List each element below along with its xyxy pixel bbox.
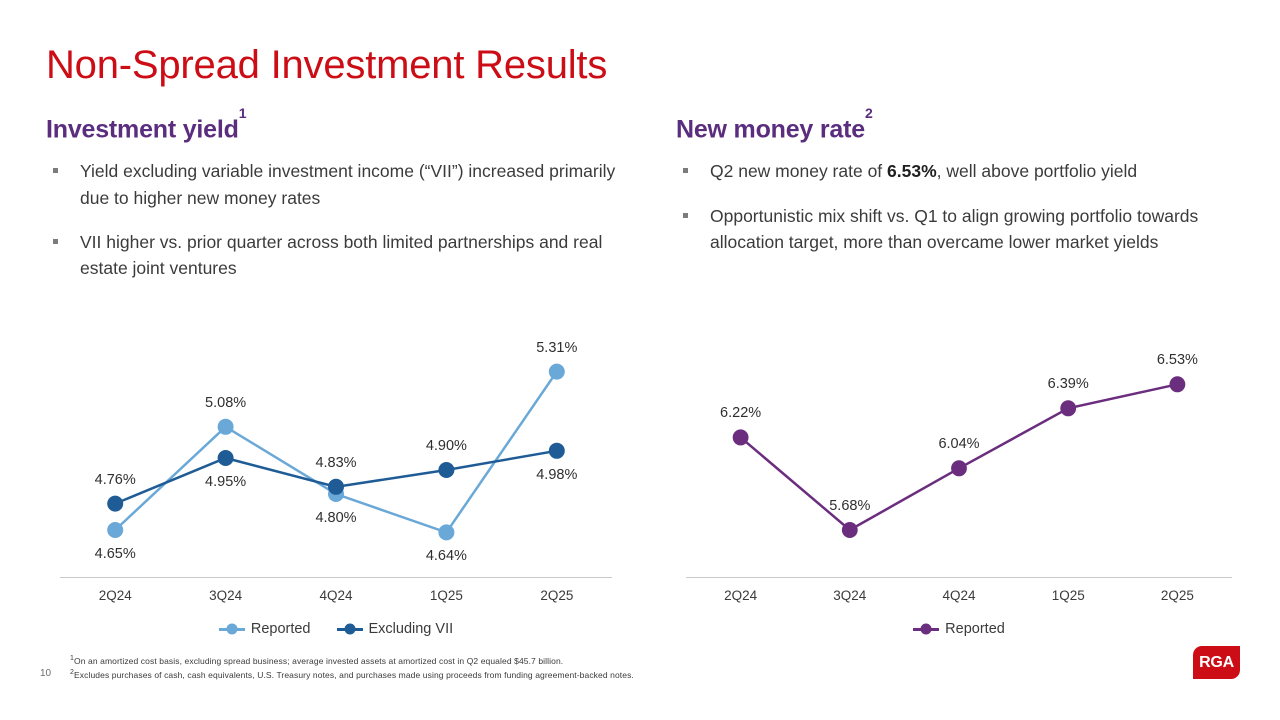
- data-point: [1169, 376, 1185, 392]
- investment-yield-legend: ReportedExcluding VII: [60, 621, 612, 637]
- right-section-heading: New money rate2: [676, 115, 1236, 144]
- left-section-heading: Investment yield1: [46, 115, 646, 144]
- data-point-label: 4.83%: [315, 455, 356, 471]
- data-point: [107, 522, 123, 538]
- data-point-label: 6.04%: [938, 436, 979, 452]
- data-point-label: 4.80%: [315, 510, 356, 526]
- series-line-reported: [115, 372, 557, 533]
- legend-marker-icon: [913, 623, 939, 635]
- legend-label: Reported: [251, 621, 311, 637]
- data-point-label: 5.08%: [205, 395, 246, 411]
- series-line-reported: [741, 384, 1178, 530]
- data-point-label: 4.76%: [95, 472, 136, 488]
- data-point: [438, 462, 454, 478]
- data-point: [842, 522, 858, 538]
- bullet-text-bold: 6.53%: [887, 161, 937, 181]
- data-point-label: 4.90%: [426, 438, 467, 454]
- page-number: 10: [40, 668, 51, 679]
- footnotes: 1On an amortized cost basis, excluding s…: [70, 654, 900, 682]
- data-point-label: 6.39%: [1048, 376, 1089, 392]
- investment-yield-chart: 4.65%5.08%4.80%4.64%5.31%4.76%4.95%4.83%…: [60, 338, 612, 638]
- data-point-label: 4.95%: [205, 474, 246, 490]
- legend-item[interactable]: Reported: [219, 621, 311, 637]
- data-point: [328, 479, 344, 495]
- data-point-label: 4.98%: [536, 467, 577, 483]
- left-heading-footnote-marker: 1: [239, 105, 247, 121]
- legend-marker-icon: [337, 623, 363, 635]
- legend-marker-icon: [219, 623, 245, 635]
- data-point: [438, 524, 454, 540]
- data-point: [951, 460, 967, 476]
- x-axis-tick-label: 2Q25: [502, 588, 612, 603]
- list-item: VII higher vs. prior quarter across both…: [46, 229, 646, 282]
- x-axis-tick-label: 2Q25: [1123, 588, 1232, 603]
- x-axis-tick-label: 1Q25: [1014, 588, 1123, 603]
- bullet-text-pre: Opportunistic mix shift vs. Q1 to align …: [710, 206, 1198, 252]
- x-axis-tick-label: 4Q24: [904, 588, 1013, 603]
- data-point: [107, 496, 123, 512]
- new-money-rate-legend: Reported: [686, 621, 1232, 637]
- right-heading-footnote-marker: 2: [865, 105, 873, 121]
- left-bullet-list: Yield excluding variable investment inco…: [46, 158, 646, 281]
- data-point-label: 5.31%: [536, 340, 577, 356]
- new-money-rate-chart: 6.22%5.68%6.04%6.39%6.53% 2Q243Q244Q241Q…: [686, 338, 1232, 638]
- new-money-rate-svg: [686, 338, 1232, 578]
- list-item: Yield excluding variable investment inco…: [46, 158, 646, 211]
- new-money-rate-x-axis-labels: 2Q243Q244Q241Q252Q25: [686, 588, 1232, 603]
- list-item: Q2 new money rate of 6.53%, well above p…: [676, 158, 1236, 184]
- bullet-text-pre: Yield excluding variable investment inco…: [80, 161, 615, 207]
- investment-yield-plot-area: 4.65%5.08%4.80%4.64%5.31%4.76%4.95%4.83%…: [60, 338, 612, 578]
- x-axis-tick-label: 1Q25: [391, 588, 501, 603]
- legend-item[interactable]: Reported: [913, 621, 1005, 637]
- new-money-rate-plot-area: 6.22%5.68%6.04%6.39%6.53%: [686, 338, 1232, 578]
- bullet-text-pre: Q2 new money rate of: [710, 161, 887, 181]
- x-axis-tick-label: 2Q24: [60, 588, 170, 603]
- right-bullet-list: Q2 new money rate of 6.53%, well above p…: [676, 158, 1236, 255]
- x-axis-tick-label: 2Q24: [686, 588, 795, 603]
- list-item: Opportunistic mix shift vs. Q1 to align …: [676, 203, 1236, 256]
- data-point-label: 4.64%: [426, 548, 467, 564]
- rga-logo: RGA: [1193, 646, 1240, 679]
- x-axis-tick-label: 3Q24: [170, 588, 280, 603]
- footnote-2: 2Excludes purchases of cash, cash equiva…: [70, 668, 900, 682]
- footnote-1-text: On an amortized cost basis, excluding sp…: [74, 656, 563, 666]
- x-axis-tick-label: 3Q24: [795, 588, 904, 603]
- page-title: Non-Spread Investment Results: [46, 43, 607, 88]
- x-axis-line: [60, 577, 612, 578]
- footnote-1: 1On an amortized cost basis, excluding s…: [70, 654, 900, 668]
- data-point-label: 6.53%: [1157, 352, 1198, 368]
- data-point-label: 4.65%: [95, 546, 136, 562]
- left-column: Investment yield1 Yield excluding variab…: [46, 115, 646, 299]
- data-point: [218, 450, 234, 466]
- data-point: [1060, 400, 1076, 416]
- footnote-2-text: Excludes purchases of cash, cash equival…: [74, 670, 634, 680]
- data-point: [549, 443, 565, 459]
- data-point-label: 6.22%: [720, 405, 761, 421]
- x-axis-tick-label: 4Q24: [281, 588, 391, 603]
- bullet-text-pre: VII higher vs. prior quarter across both…: [80, 232, 602, 278]
- data-point-label: 5.68%: [829, 498, 870, 514]
- legend-label: Reported: [945, 621, 1005, 637]
- left-heading-text: Investment yield: [46, 115, 239, 143]
- data-point: [549, 364, 565, 380]
- x-axis-line: [686, 577, 1232, 578]
- right-column: New money rate2 Q2 new money rate of 6.5…: [676, 115, 1236, 273]
- data-point: [733, 429, 749, 445]
- investment-yield-x-axis-labels: 2Q243Q244Q241Q252Q25: [60, 588, 612, 603]
- legend-item[interactable]: Excluding VII: [337, 621, 454, 637]
- bullet-text-post: , well above portfolio yield: [937, 161, 1137, 181]
- right-heading-text: New money rate: [676, 115, 865, 143]
- legend-label: Excluding VII: [369, 621, 454, 637]
- data-point: [218, 419, 234, 435]
